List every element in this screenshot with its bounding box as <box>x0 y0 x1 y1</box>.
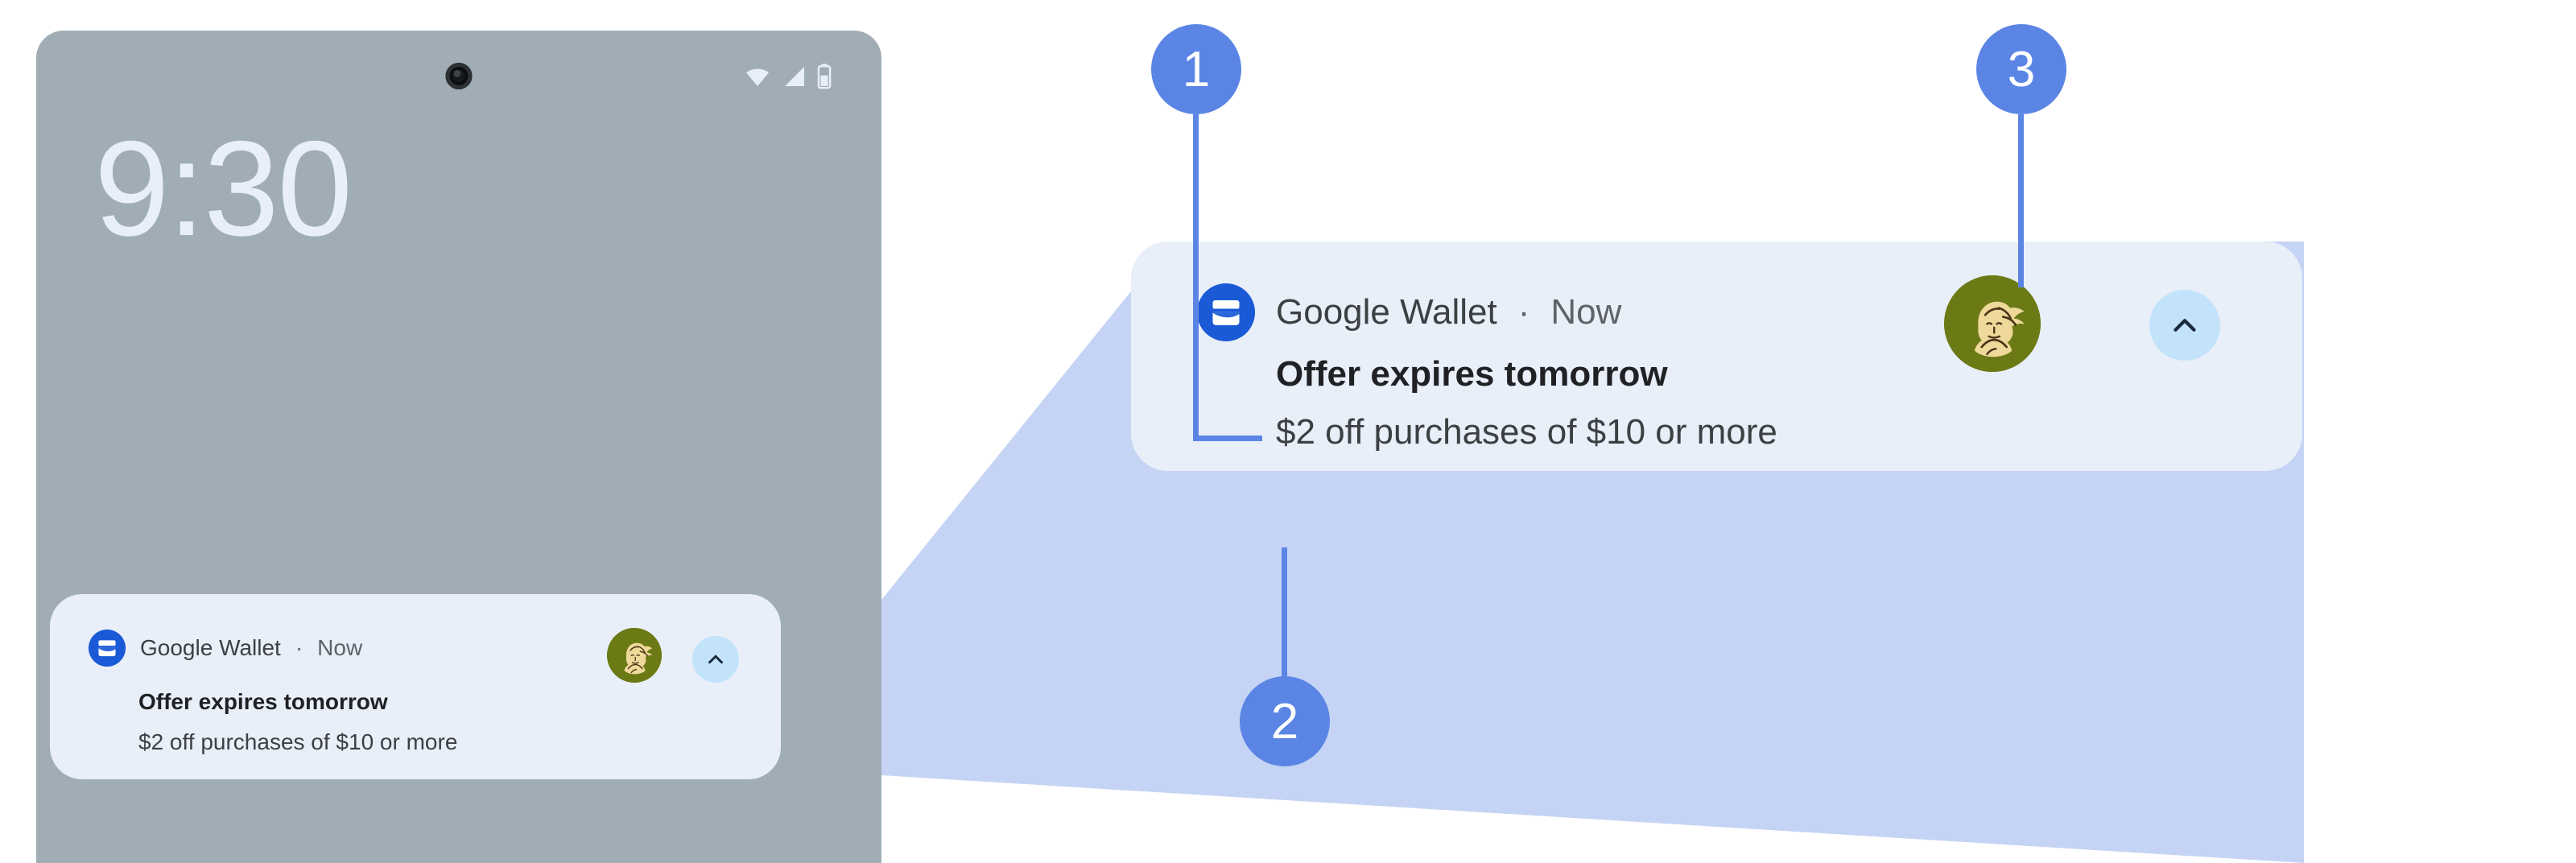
notification-card-enlarged[interactable]: Google Wallet · Now Offer expires tomorr… <box>1131 242 2302 471</box>
chevron-up-icon <box>704 647 728 671</box>
chevron-up-icon <box>2166 307 2203 344</box>
google-wallet-icon <box>89 630 126 667</box>
cell-signal-icon <box>780 64 809 89</box>
notification-body-small: $2 off purchases of $10 or more <box>138 729 457 755</box>
merchant-avatar <box>1944 275 2041 372</box>
notification-title-small: Offer expires tomorrow <box>138 689 388 715</box>
battery-icon <box>815 63 833 90</box>
callout-leader-line-2 <box>1282 547 1287 680</box>
wifi-icon <box>741 64 774 89</box>
callout-marker-1[interactable]: 1 <box>1151 24 1241 114</box>
callout-leader-elbow-1 <box>1193 436 1262 441</box>
notification-timestamp: Now <box>1550 292 1621 332</box>
notification-app-name-small: Google Wallet <box>140 635 281 661</box>
callout-leader-line-3 <box>2018 114 2024 287</box>
callout-marker-3[interactable]: 3 <box>1976 24 2066 114</box>
notification-app-name: Google Wallet <box>1276 292 1497 332</box>
notification-header-small: Google Wallet · Now <box>89 630 362 667</box>
merchant-avatar-small <box>607 628 662 683</box>
notification-separator: · <box>1518 302 1530 323</box>
notification-timestamp-small: Now <box>317 635 362 661</box>
notification-header: Google Wallet · Now <box>1197 283 1621 341</box>
callout-leader-line-1 <box>1193 114 1199 440</box>
screenshot-stage: 9:30 Google Wallet · Now Offer expires t… <box>0 0 2576 863</box>
front-camera-punch-hole-icon <box>446 63 473 89</box>
lock-screen-clock: 9:30 <box>94 121 351 256</box>
notification-card-small[interactable]: Google Wallet · Now Offer expires tomorr… <box>50 594 781 779</box>
notification-title: Offer expires tomorrow <box>1276 354 1668 394</box>
status-bar <box>741 63 833 90</box>
notification-body: $2 off purchases of $10 or more <box>1276 412 1777 452</box>
notification-separator-small: · <box>295 635 303 661</box>
google-wallet-icon <box>1197 283 1255 341</box>
callout-marker-2[interactable]: 2 <box>1240 676 1330 766</box>
notification-expand-button[interactable] <box>2149 290 2220 361</box>
notification-expand-button-small[interactable] <box>692 636 739 683</box>
